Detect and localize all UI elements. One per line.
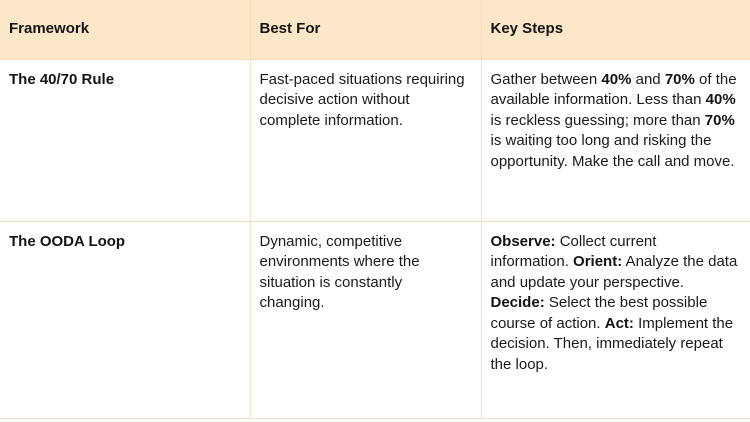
cell-framework-name: The 40/70 Rule bbox=[0, 59, 250, 221]
cell-key-steps: Gather between 40% and 70% of the availa… bbox=[481, 59, 750, 221]
cell-framework-name: The OODA Loop bbox=[0, 221, 250, 418]
column-header-framework: Framework bbox=[0, 0, 250, 59]
column-header-key-steps: Key Steps bbox=[481, 0, 750, 59]
cell-best-for: Fast-paced situations requiring decisive… bbox=[250, 59, 481, 221]
table-row: The OODA Loop Dynamic, competitive envir… bbox=[0, 221, 750, 418]
table-row: The 40/70 Rule Fast-paced situations req… bbox=[0, 59, 750, 221]
cell-key-steps: Observe: Collect current information. Or… bbox=[481, 221, 750, 418]
cell-best-for: Dynamic, competitive environments where … bbox=[250, 221, 481, 418]
table-header: Framework Best For Key Steps bbox=[0, 0, 750, 59]
column-header-best-for: Best For bbox=[250, 0, 481, 59]
table-header-row: Framework Best For Key Steps bbox=[0, 0, 750, 59]
framework-comparison-table: Framework Best For Key Steps The 40/70 R… bbox=[0, 0, 750, 419]
framework-comparison-table-wrapper: Framework Best For Key Steps The 40/70 R… bbox=[0, 0, 750, 419]
table-body: The 40/70 Rule Fast-paced situations req… bbox=[0, 59, 750, 418]
